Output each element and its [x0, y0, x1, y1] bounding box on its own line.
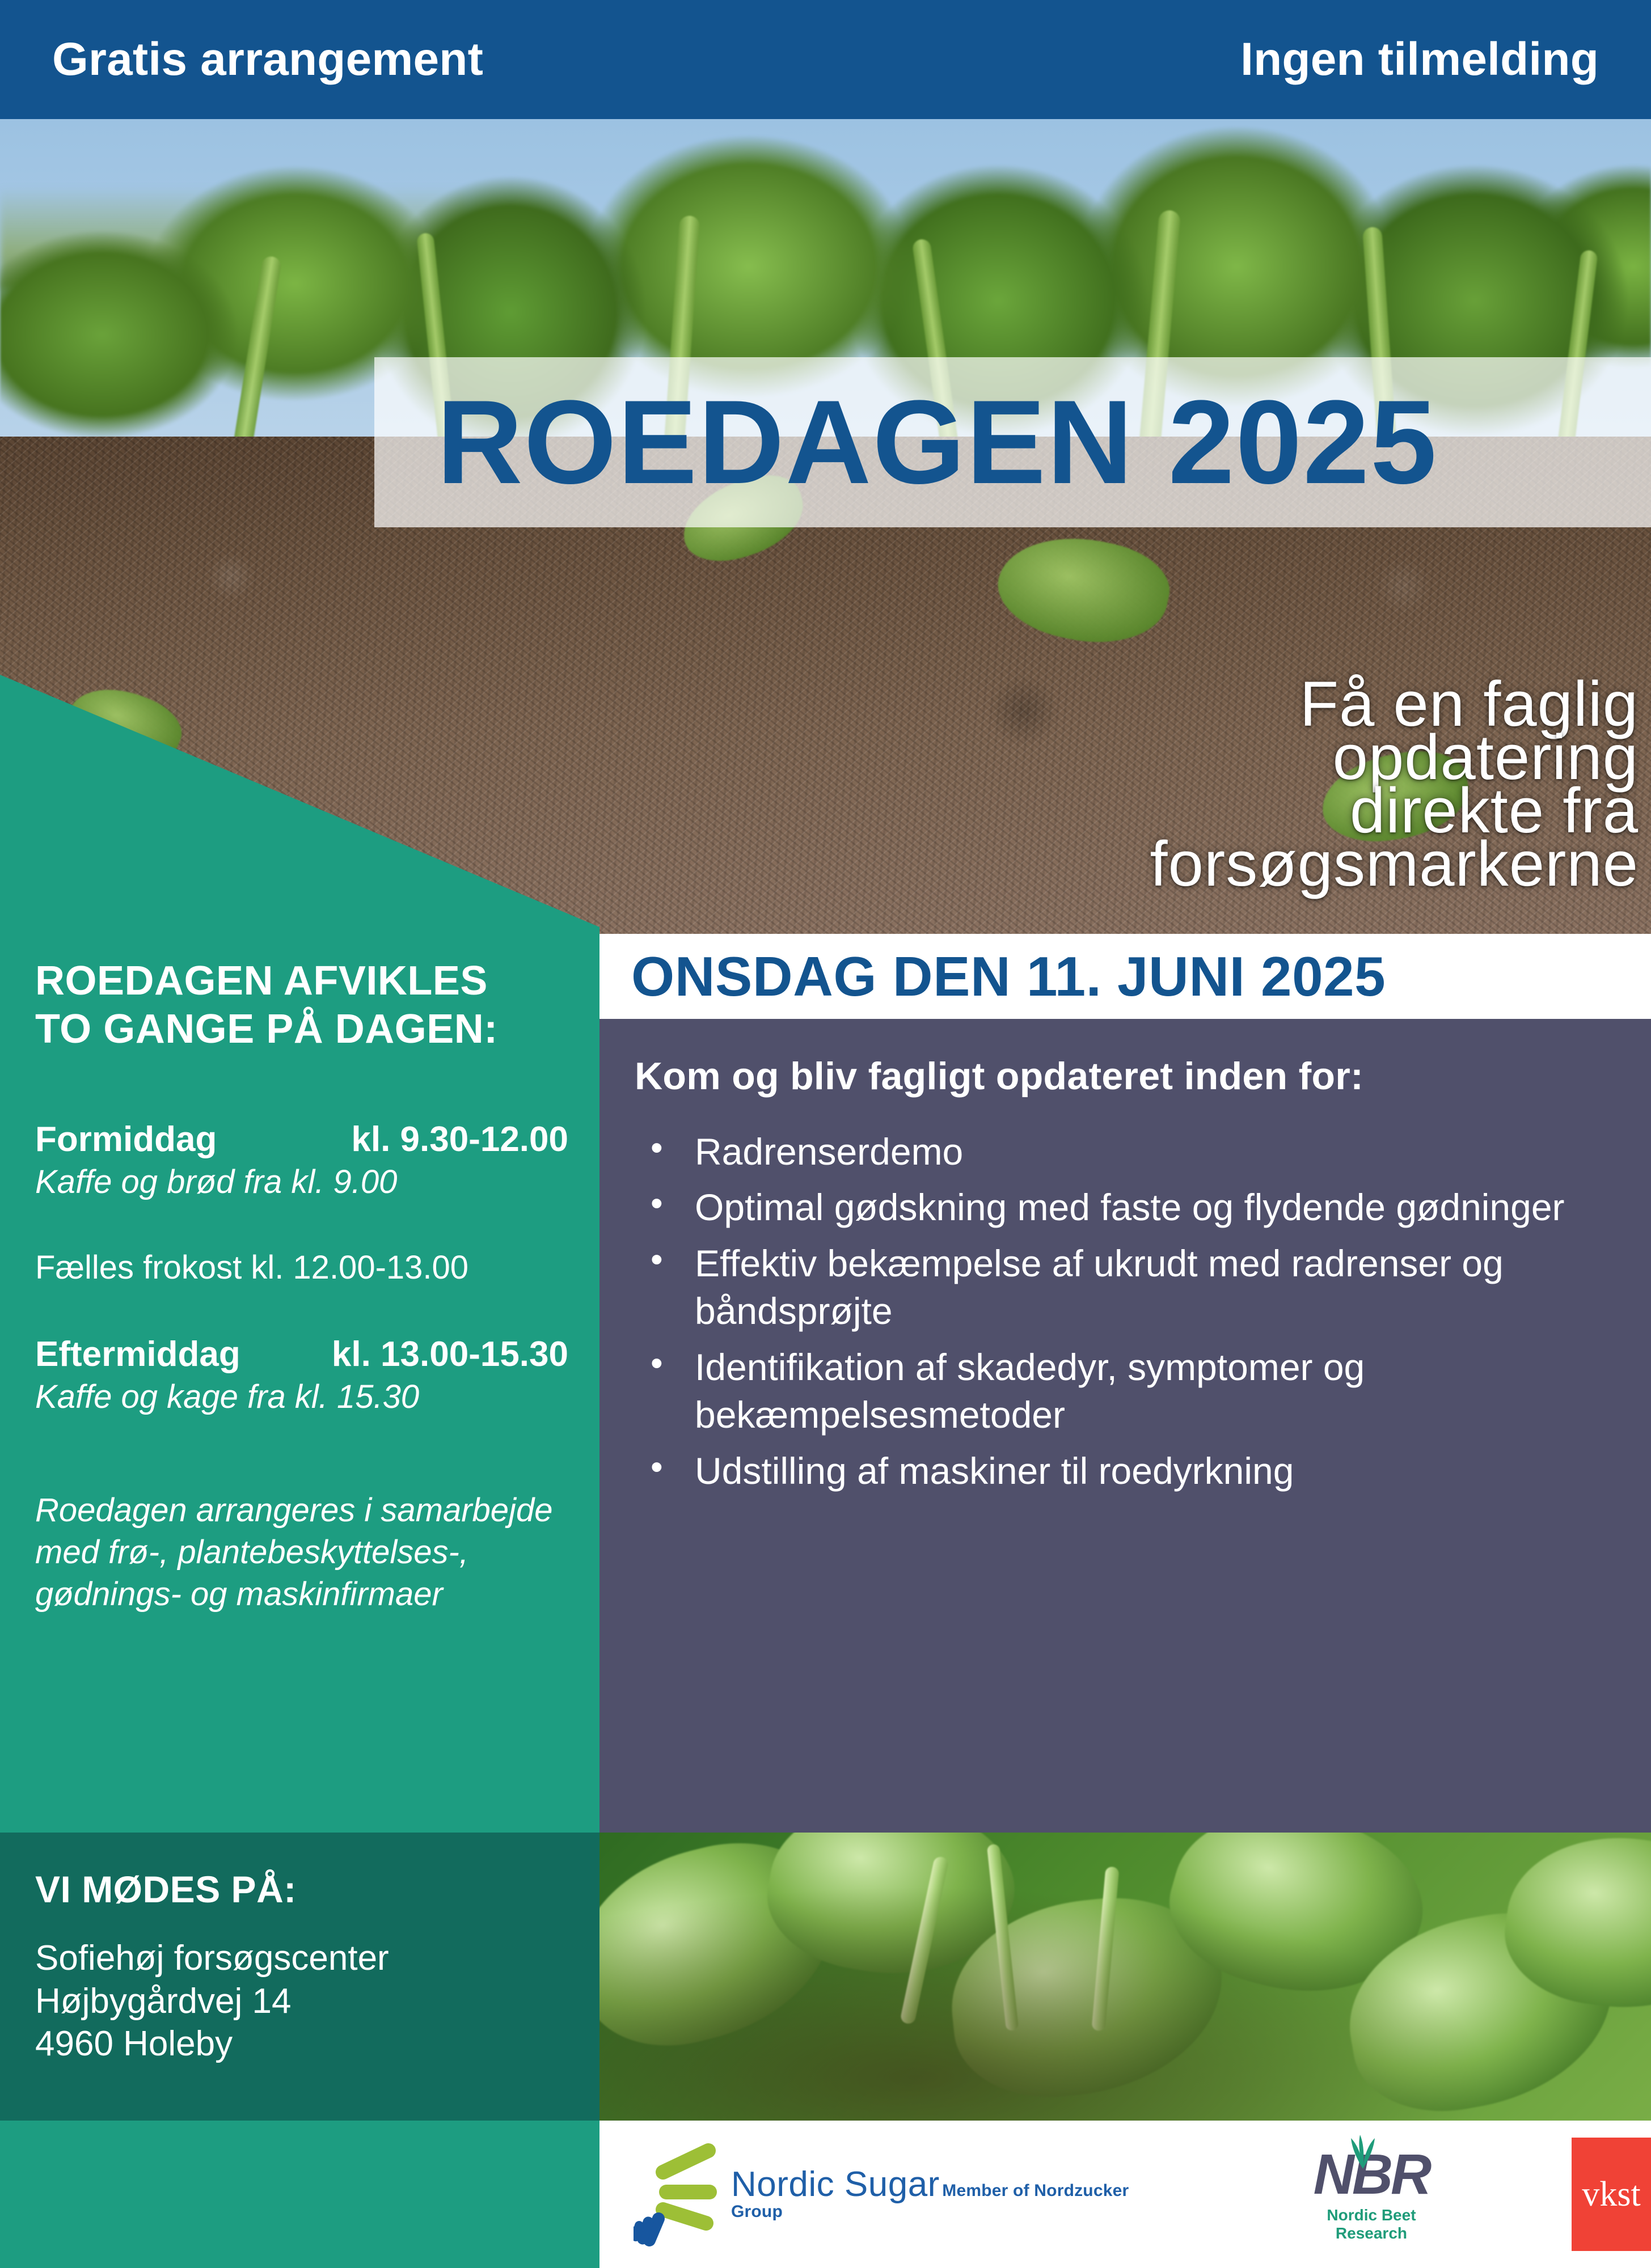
venue-line-2: Højbygårdvej 14	[35, 1980, 565, 2023]
beet-leaf	[942, 1887, 1233, 2107]
list-item: Effektiv bekæmpelse af ukrudt med radren…	[635, 1239, 1611, 1335]
footer-green-strip	[0, 2121, 599, 2268]
nordic-sugar-text: Nordic Sugar Member of Nordzucker Group	[731, 2167, 1157, 2222]
list-item: Udstilling af maskiner til roedyrkning	[635, 1447, 1611, 1495]
schedule-heading-line-2: TO GANGE PÅ DAGEN:	[35, 1005, 565, 1053]
vkst-logo: vkst	[1572, 2138, 1651, 2251]
nordic-sugar-logo: Nordic Sugar Member of Nordzucker Group	[634, 2139, 1157, 2250]
event-date: ONSDAG DEN 11. JUNI 2025	[631, 945, 1386, 1009]
footer-logos: Nordic Sugar Member of Nordzucker Group …	[599, 2121, 1651, 2268]
venue-line-1: Sofiehøj forsøgscenter	[35, 1937, 565, 1980]
schedule-panel: ROEDAGEN AFVIKLES TO GANGE PÅ DAGEN: For…	[0, 930, 599, 1833]
beet-leaf	[1153, 1833, 1441, 2022]
nbr-logo: NBR Nordic Beet Research	[1293, 2146, 1450, 2242]
morning-time: kl. 9.30-12.00	[351, 1119, 568, 1160]
schedule-morning: Formiddag kl. 9.30-12.00 Kaffe og brød f…	[35, 1119, 565, 1201]
schedule-lunch: Fælles frokost kl. 12.00-13.00	[35, 1249, 565, 1287]
beet-stem	[900, 1856, 949, 2025]
bottom-photo-beet-leaves	[599, 1833, 1651, 2121]
hero-tagline: Få en faglig opdatering direkte fra fors…	[744, 678, 1651, 891]
topics-panel: Kom og bliv fagligt opdateret inden for:…	[599, 1019, 1651, 1833]
topics-intro: Kom og bliv fagligt opdateret inden for:	[635, 1054, 1611, 1098]
collaboration-note: Roedagen arrangeres i samarbejde med frø…	[35, 1490, 580, 1616]
beet-leaf	[1496, 1833, 1651, 2024]
beet-leaf	[599, 1833, 856, 2066]
event-date-strip: ONSDAG DEN 11. JUNI 2025	[599, 934, 1651, 1019]
tagline-line-4: forsøgsmarkerne	[744, 837, 1639, 891]
beet-leaf	[1334, 1896, 1629, 2121]
schedule-afternoon: Eftermiddag kl. 13.00-15.30 Kaffe og kag…	[35, 1334, 565, 1416]
topics-list: Radrenserdemo Optimal gødskning med fast…	[635, 1128, 1611, 1495]
vkst-box: vkst	[1572, 2138, 1651, 2251]
afternoon-note: Kaffe og kage fra kl. 15.30	[35, 1378, 565, 1416]
afternoon-label: Eftermiddag	[35, 1334, 240, 1374]
list-item: Radrenserdemo	[635, 1128, 1611, 1175]
page-title: ROEDAGEN 2025	[374, 383, 1438, 502]
banner-left-label: Gratis arrangement	[52, 36, 483, 83]
beet-stem	[987, 1844, 1019, 2031]
morning-note: Kaffe og brød fra kl. 9.00	[35, 1163, 565, 1201]
schedule-heading: ROEDAGEN AFVIKLES TO GANGE PÅ DAGEN:	[35, 957, 565, 1053]
list-item: Optimal gødskning med faste og flydende …	[635, 1183, 1611, 1231]
nordic-sugar-beet-icon	[634, 2139, 719, 2250]
afternoon-time: kl. 13.00-15.30	[332, 1334, 568, 1374]
morning-label: Formiddag	[35, 1119, 217, 1160]
nbr-sprout-icon	[1343, 2121, 1383, 2178]
nbr-mark: NBR	[1314, 2146, 1430, 2203]
nbr-tagline: Nordic Beet Research	[1293, 2206, 1450, 2242]
beet-leaf	[757, 1833, 1027, 1994]
title-band: ROEDAGEN 2025	[374, 357, 1651, 527]
venue-panel: VI MØDES PÅ: Sofiehøj forsøgscenter Højb…	[0, 1833, 599, 2121]
nordic-sugar-name: Nordic Sugar	[731, 2165, 940, 2204]
schedule-heading-line-1: ROEDAGEN AFVIKLES	[35, 957, 565, 1005]
venue-line-3: 4960 Holeby	[35, 2022, 565, 2066]
vkst-mark: vkst	[1582, 2177, 1640, 2212]
top-banner: Gratis arrangement Ingen tilmelding	[0, 0, 1651, 119]
beet-stem	[1091, 1867, 1119, 2032]
list-item: Identifikation af skadedyr, symptomer og…	[635, 1343, 1611, 1439]
venue-address: Sofiehøj forsøgscenter Højbygårdvej 14 4…	[35, 1937, 565, 2066]
venue-heading: VI MØDES PÅ:	[35, 1868, 565, 1911]
banner-right-label: Ingen tilmelding	[1240, 36, 1599, 83]
